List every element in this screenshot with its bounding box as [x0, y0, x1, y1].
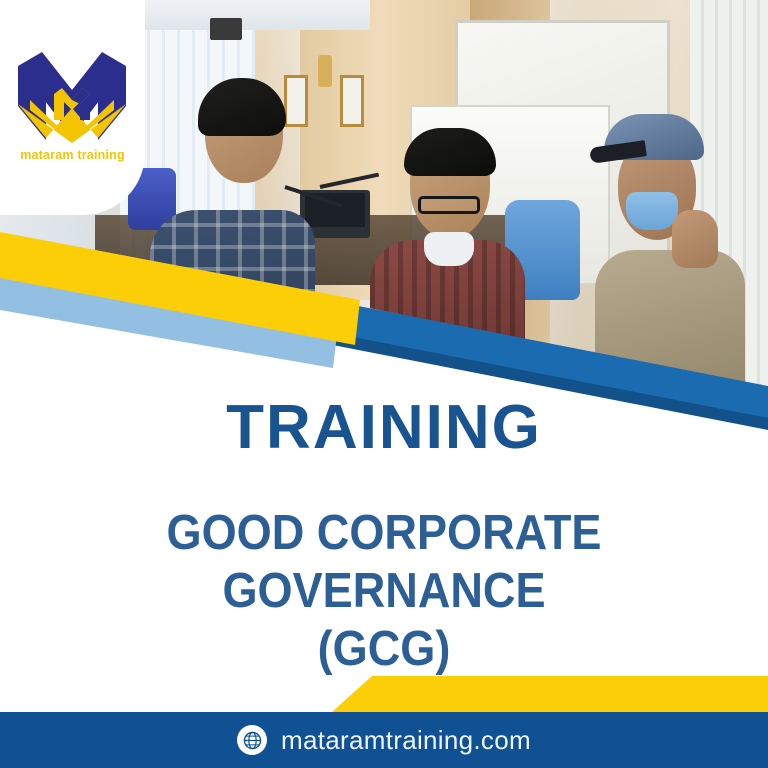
shelf-bottle — [318, 55, 332, 87]
page-title-line1: GOOD CORPORATE GOVERNANCE — [167, 506, 602, 618]
page-title: GOOD CORPORATE GOVERNANCE (GCG) — [31, 505, 738, 678]
poster-canvas: mataram training TRAINING GOOD CORPORATE… — [0, 0, 768, 768]
globe-icon — [237, 725, 267, 755]
person-center-mask — [424, 232, 474, 266]
person-center-hair — [404, 128, 496, 176]
ceiling-strip — [130, 0, 370, 30]
person-center-glasses — [418, 196, 480, 214]
logo-caption: mataram training — [0, 148, 145, 162]
wall-frame-right — [340, 75, 364, 127]
eyebrow-training: TRAINING — [0, 392, 768, 463]
footer-bar: mataramtraining.com — [0, 712, 768, 768]
person-right-mask — [626, 192, 678, 230]
mataram-m-logo-icon — [16, 48, 128, 143]
ceiling-projector — [210, 18, 242, 40]
page-title-line2: (GCG) — [31, 621, 738, 679]
website-url[interactable]: mataramtraining.com — [281, 725, 531, 756]
wall-frame-left — [284, 75, 308, 127]
logo-panel: mataram training — [0, 0, 145, 215]
person-right-hand — [672, 210, 718, 268]
